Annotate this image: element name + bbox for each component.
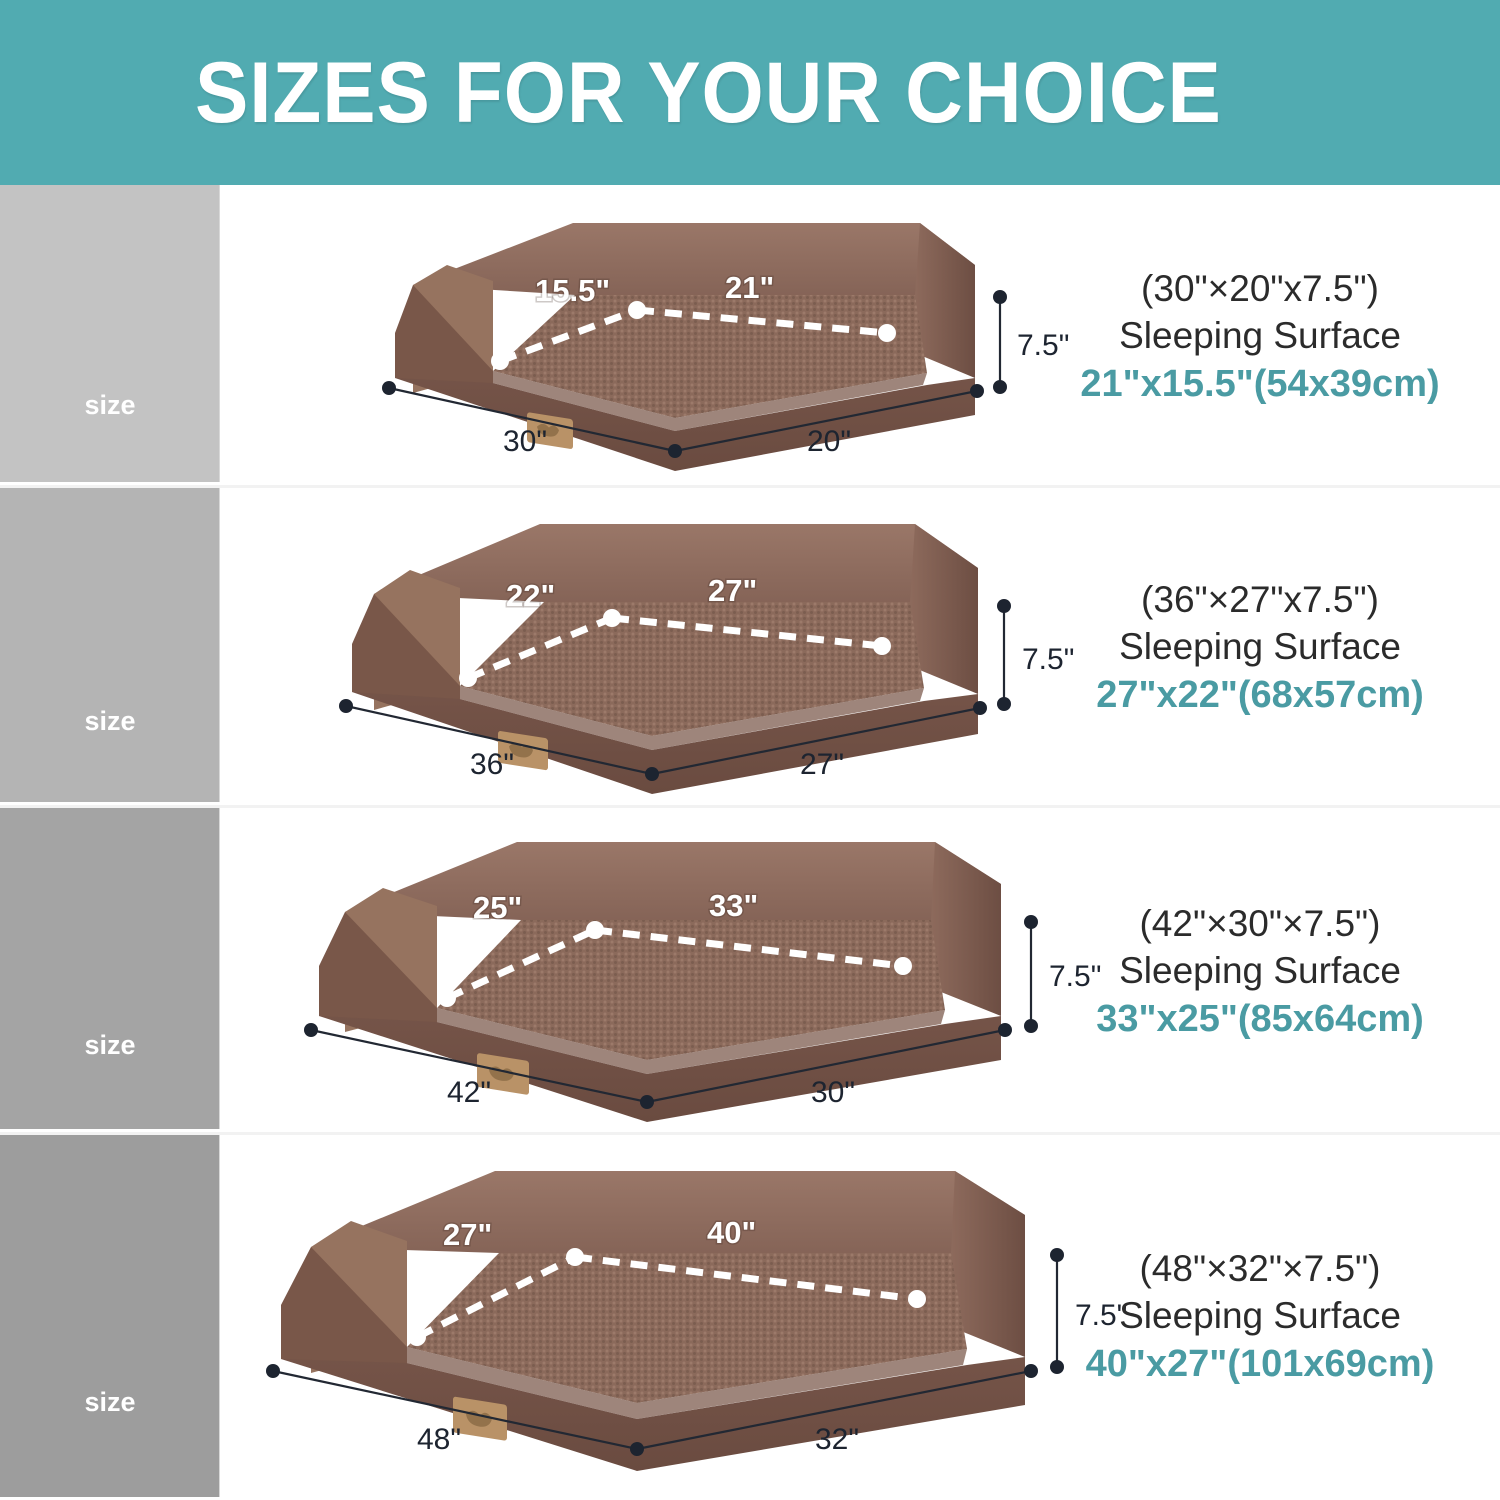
table-row: size — [0, 488, 1500, 808]
inner-depth-label: 22" — [506, 578, 555, 613]
inner-depth-label: 25" — [473, 890, 522, 925]
outer-width-label: 27" — [800, 748, 844, 781]
spec-block: (48"×32"×7.5") Sleeping Surface 40"x27"(… — [1050, 1245, 1470, 1388]
spec-block: (36"×27"x7.5") Sleeping Surface 27"x22"(… — [1050, 576, 1470, 719]
inner-width-label: 40" — [707, 1215, 756, 1250]
size-label: size — [0, 1387, 220, 1418]
page-header: SIZES FOR YOUR CHOICE — [0, 0, 1500, 185]
sleeping-surface-label: Sleeping Surface — [1050, 623, 1470, 670]
overall-dimensions: (36"×27"x7.5") — [1050, 576, 1470, 623]
overall-dimensions: (48"×32"×7.5") — [1050, 1245, 1470, 1292]
size-cell: size — [0, 185, 220, 482]
bed-cell: 27" 40" 48" 32" 7.5" — [220, 1135, 1500, 1497]
sleeping-surface-value: 21"x15.5"(54x39cm) — [1050, 360, 1470, 409]
bed-illustration-xlarge: 27" 40" 48" 32" 7.5" — [255, 1157, 1155, 1467]
size-cell: size — [0, 808, 220, 1129]
outer-length-label: 30" — [503, 425, 547, 458]
size-table: size — [0, 185, 1500, 1500]
sleeping-surface-label: Sleeping Surface — [1050, 312, 1470, 359]
outer-length-label: 36" — [470, 748, 514, 781]
bed-illustration-small: 15.5" 21" 30" 20" — [375, 203, 1075, 468]
inner-width-label: 21" — [725, 270, 774, 305]
sleeping-surface-value: 40"x27"(101x69cm) — [1050, 1340, 1470, 1389]
inner-depth-label: 15.5" — [535, 273, 610, 308]
sleeping-surface-value: 33"x25"(85x64cm) — [1050, 995, 1470, 1044]
bed-illustration-large: 25" 33" 42" 30" 7.5" — [295, 826, 1125, 1118]
table-row: size — [0, 808, 1500, 1135]
outer-length-label: 42" — [447, 1076, 491, 1109]
page-title: SIZES FOR YOUR CHOICE — [195, 50, 1222, 136]
table-row: size — [0, 1135, 1500, 1500]
outer-length-label: 48" — [417, 1423, 461, 1456]
bed-cell: 25" 33" 42" 30" 7.5" — [220, 808, 1500, 1129]
size-label: size — [0, 706, 220, 737]
sleeping-surface-label: Sleeping Surface — [1050, 947, 1470, 994]
outer-width-label: 30" — [811, 1076, 855, 1109]
spec-block: (42"×30"×7.5") Sleeping Surface 33"x25"(… — [1050, 900, 1470, 1043]
size-cell: size — [0, 488, 220, 802]
outer-width-label: 32" — [815, 1423, 859, 1456]
overall-dimensions: (42"×30"×7.5") — [1050, 900, 1470, 947]
size-label: size — [0, 1030, 220, 1061]
inner-depth-label: 27" — [443, 1217, 492, 1252]
inner-width-label: 27" — [708, 573, 757, 608]
bed-illustration-medium: 22" 27" 36" 27" 7.5" — [330, 506, 1090, 791]
outer-width-label: 20" — [807, 425, 851, 458]
inner-width-label: 33" — [709, 888, 758, 923]
spec-block: (30"×20"x7.5") Sleeping Surface 21"x15.5… — [1050, 265, 1470, 408]
bed-cell: 15.5" 21" 30" 20" — [220, 185, 1500, 482]
size-label: size — [0, 390, 220, 421]
sleeping-surface-label: Sleeping Surface — [1050, 1292, 1470, 1339]
bed-cell: 22" 27" 36" 27" 7.5" — [220, 488, 1500, 802]
size-cell: size — [0, 1135, 220, 1497]
sleeping-surface-value: 27"x22"(68x57cm) — [1050, 671, 1470, 720]
table-row: size — [0, 185, 1500, 488]
overall-dimensions: (30"×20"x7.5") — [1050, 265, 1470, 312]
